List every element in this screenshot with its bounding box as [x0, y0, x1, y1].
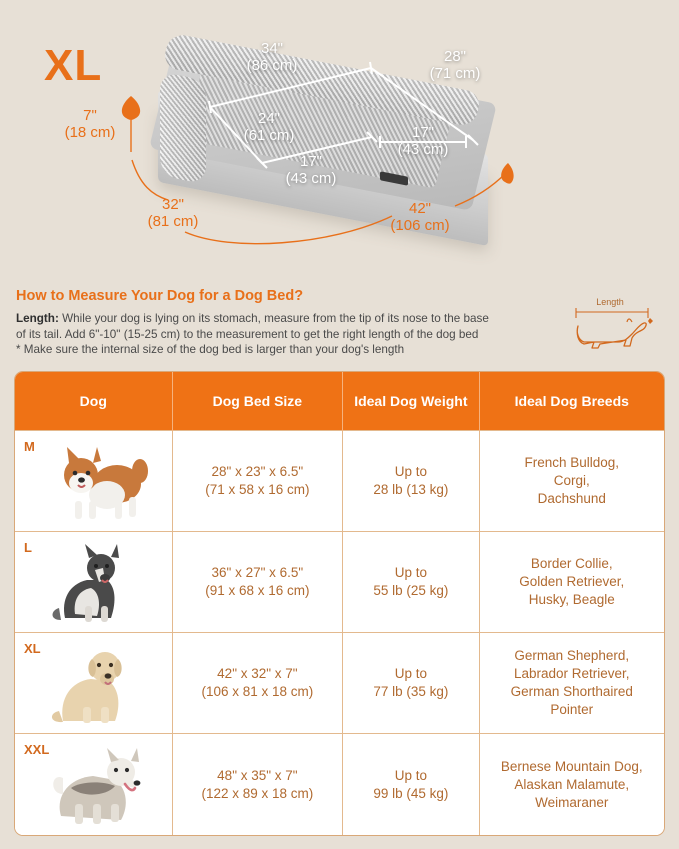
labrador-photo — [45, 641, 163, 725]
callout-total-depth: 32"(81 cm) — [118, 196, 228, 230]
diagram-length-label: Length — [596, 297, 624, 307]
callout-height: 7"(18 cm) — [40, 107, 140, 141]
col-header-dog: Dog — [15, 372, 172, 431]
callout-outer-depth: 28"(71 cm) — [400, 48, 510, 82]
cell-dog-l: L — [15, 532, 172, 633]
size-chart-table: Dog Dog Bed Size Ideal Dog Weight Ideal … — [14, 371, 665, 836]
cell-dog-m: M — [15, 431, 172, 532]
callout-outer-width: 34"(86 cm) — [217, 40, 327, 74]
table-row: L — [15, 532, 664, 633]
dog-length-diagram: Length — [570, 292, 662, 354]
col-header-weight: Ideal Dog Weight — [343, 372, 479, 431]
measure-body: Length: While your dog is lying on its s… — [16, 311, 666, 358]
callout-inner-depth-front: 17"(43 cm) — [256, 153, 366, 187]
measure-line2: of its tail. Add 6"-10" (15-25 cm) to th… — [16, 328, 478, 341]
measure-instructions: How to Measure Your Dog for a Dog Bed? L… — [16, 288, 666, 362]
cell-weight-l: Up to 55 lb (25 kg) — [343, 532, 479, 633]
cell-weight-xl: Up to 77 lb (35 kg) — [343, 633, 479, 734]
size-label-l: L — [24, 539, 32, 557]
length-label: Length: — [16, 312, 59, 325]
table-header-row: Dog Dog Bed Size Ideal Dog Weight Ideal … — [15, 372, 664, 431]
callout-inner-depth-right: 17"(43 cm) — [368, 124, 478, 158]
col-header-breeds: Ideal Dog Breeds — [479, 372, 664, 431]
cell-bedsize-xxl: 48" x 35" x 7" (122 x 89 x 18 cm) — [172, 734, 343, 835]
cell-weight-xxl: Up to 99 lb (45 kg) — [343, 734, 479, 835]
measure-line3: * Make sure the internal size of the dog… — [16, 343, 404, 356]
size-label-xl: XL — [24, 640, 41, 658]
callout-total-width: 42"(106 cm) — [340, 200, 500, 234]
product-hero: XL — [0, 0, 679, 272]
cell-weight-m: Up to 28 lb (13 kg) — [343, 431, 479, 532]
measure-line1: While your dog is lying on its stomach, … — [59, 312, 489, 325]
cell-breeds-l: Border Collie, Golden Retriever, Husky, … — [479, 532, 664, 633]
malamute-photo — [45, 742, 163, 826]
cell-breeds-xl: German Shepherd, Labrador Retriever, Ger… — [479, 633, 664, 734]
callout-inner-width: 24"(61 cm) — [214, 110, 324, 144]
corgi-photo — [45, 439, 163, 523]
infographic-page: XL — [0, 0, 679, 849]
table-row: M — [15, 431, 664, 532]
cell-dog-xxl: XXL — [15, 734, 172, 835]
col-header-bedsize: Dog Bed Size — [172, 372, 343, 431]
cell-dog-xl: XL — [15, 633, 172, 734]
table-row: XXL — [15, 734, 664, 835]
measure-heading: How to Measure Your Dog for a Dog Bed? — [16, 288, 666, 304]
border-collie-photo — [45, 540, 163, 624]
table-row: XL — [15, 633, 664, 734]
cell-breeds-m: French Bulldog, Corgi, Dachshund — [479, 431, 664, 532]
table-body: M — [15, 431, 664, 836]
cell-bedsize-m: 28" x 23" x 6.5" (71 x 58 x 16 cm) — [172, 431, 343, 532]
cell-bedsize-xl: 42" x 32" x 7" (106 x 81 x 18 cm) — [172, 633, 343, 734]
cell-bedsize-l: 36" x 27" x 6.5" (91 x 68 x 16 cm) — [172, 532, 343, 633]
size-label-m: M — [24, 438, 35, 456]
cell-breeds-xxl: Bernese Mountain Dog, Alaskan Malamute, … — [479, 734, 664, 835]
